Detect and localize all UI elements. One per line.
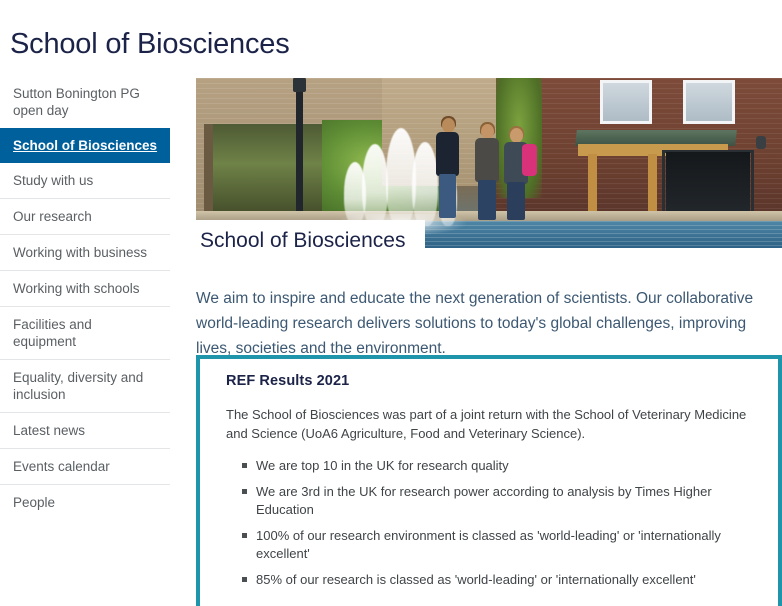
sidebar-item-working-with-schools[interactable]: Working with schools bbox=[0, 271, 170, 307]
main-content: School of Biosciences We aim to inspire … bbox=[196, 78, 782, 248]
figure-legs bbox=[507, 182, 525, 220]
sidebar-item-label: People bbox=[13, 495, 55, 510]
sidebar-item-label: Events calendar bbox=[13, 459, 110, 474]
list-item: 85% of our research is classed as 'world… bbox=[256, 571, 752, 589]
sidebar-item-study-with-us[interactable]: Study with us bbox=[0, 163, 170, 199]
figure-head bbox=[481, 124, 494, 139]
canopy-post-right bbox=[648, 154, 657, 218]
sidebar-item-facilities-and-equipment[interactable]: Facilities and equipment bbox=[0, 307, 170, 360]
sidebar-item-label: School of Biosciences bbox=[13, 138, 157, 153]
sidebar-item-label: Sutton Bonington PG open day bbox=[13, 86, 140, 118]
sidebar-item-working-with-business[interactable]: Working with business bbox=[0, 235, 170, 271]
lamp-post-head bbox=[293, 78, 306, 92]
sidebar-item-label: Working with business bbox=[13, 245, 147, 260]
ref-results-box: REF Results 2021 The School of Bioscienc… bbox=[196, 355, 782, 606]
sidebar-item-our-research[interactable]: Our research bbox=[0, 199, 170, 235]
sidebar-item-label: Latest news bbox=[13, 423, 85, 438]
figure-backpack bbox=[522, 144, 537, 176]
ref-results-heading: REF Results 2021 bbox=[226, 373, 752, 389]
sash-window-right bbox=[683, 80, 735, 124]
list-item: We are 3rd in the UK for research power … bbox=[256, 483, 752, 519]
hero-banner: School of Biosciences bbox=[196, 78, 782, 248]
sidebar-item-sutton-bonington-pg-open-day[interactable]: Sutton Bonington PG open day bbox=[0, 78, 170, 128]
sidebar-item-label: Study with us bbox=[13, 173, 93, 188]
sidebar-item-latest-news[interactable]: Latest news bbox=[0, 413, 170, 449]
sidebar-item-school-of-biosciences[interactable]: School of Biosciences bbox=[0, 128, 170, 163]
figure-legs bbox=[478, 180, 496, 220]
student-figure bbox=[432, 118, 462, 218]
page-root: School of Biosciences Sutton Bonington P… bbox=[0, 0, 782, 606]
sidebar-nav: Sutton Bonington PG open day School of B… bbox=[0, 78, 170, 520]
student-figure bbox=[472, 124, 502, 220]
sidebar-item-label: Equality, diversity and inclusion bbox=[13, 370, 143, 402]
sidebar-item-equality-diversity-and-inclusion[interactable]: Equality, diversity and inclusion bbox=[0, 360, 170, 413]
wall-lamp-icon bbox=[756, 136, 766, 149]
ref-results-paragraph: The School of Biosciences was part of a … bbox=[226, 405, 752, 443]
sidebar-item-people[interactable]: People bbox=[0, 485, 170, 520]
figure-head bbox=[510, 128, 523, 143]
figure-legs bbox=[439, 174, 456, 218]
hero-title: School of Biosciences bbox=[200, 228, 405, 248]
student-figure bbox=[502, 128, 536, 220]
sash-window-left bbox=[600, 80, 652, 124]
list-item: We are top 10 in the UK for research qua… bbox=[256, 457, 752, 475]
list-item: 100% of our research environment is clas… bbox=[256, 527, 752, 563]
intro-paragraph: We aim to inspire and educate the next g… bbox=[196, 286, 762, 361]
figure-body bbox=[436, 132, 459, 176]
figure-body bbox=[475, 138, 499, 182]
figure-head bbox=[442, 118, 455, 133]
canopy-post-left bbox=[588, 154, 597, 218]
hero-title-box: School of Biosciences bbox=[196, 220, 425, 248]
lamp-post bbox=[296, 78, 303, 218]
window-opening-left bbox=[204, 124, 322, 212]
entrance-doorway bbox=[666, 152, 750, 218]
sidebar-item-events-calendar[interactable]: Events calendar bbox=[0, 449, 170, 485]
sidebar-item-label: Our research bbox=[13, 209, 92, 224]
ref-results-list: We are top 10 in the UK for research qua… bbox=[226, 457, 752, 589]
page-title: School of Biosciences bbox=[10, 27, 290, 61]
sidebar-item-label: Facilities and equipment bbox=[13, 317, 92, 349]
sidebar-item-label: Working with schools bbox=[13, 281, 140, 296]
